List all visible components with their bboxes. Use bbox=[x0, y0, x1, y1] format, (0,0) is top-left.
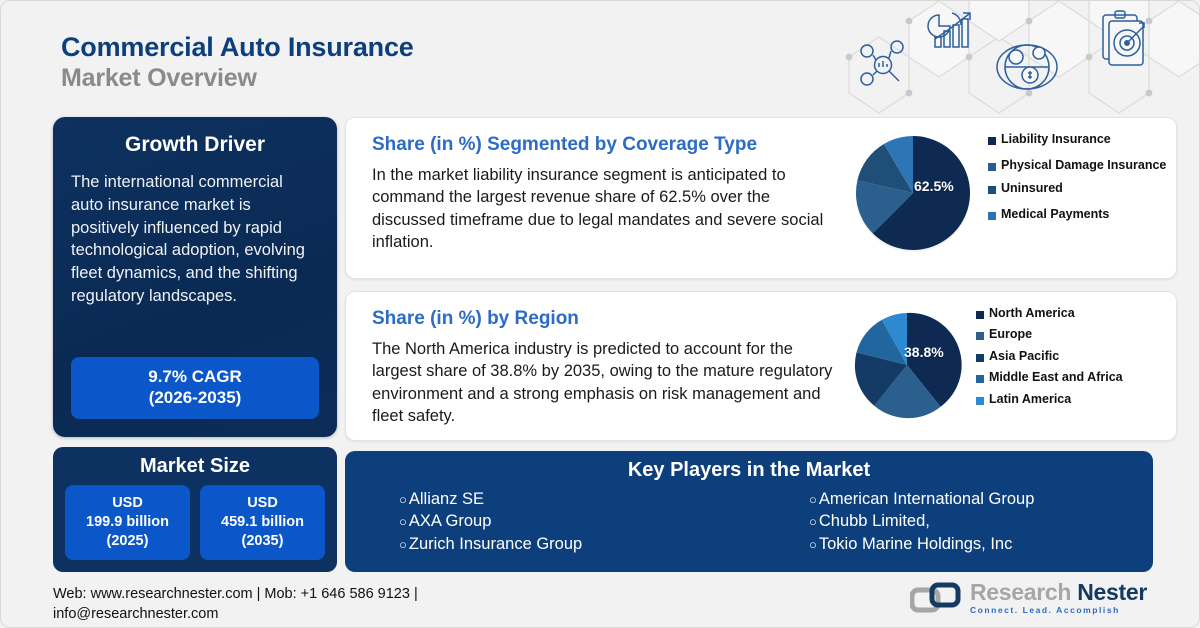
legend-swatch-medical-payments bbox=[988, 212, 996, 220]
legend-label: Medical Payments bbox=[1001, 207, 1109, 221]
research-nester-logo: Research Nester Connect. Lead. Accomplis… bbox=[910, 581, 1147, 615]
region-section-heading: Share (in %) by Region bbox=[372, 308, 834, 330]
coverage-type-section: Share (in %) Segmented by Coverage Type … bbox=[345, 117, 1177, 279]
currency-label: USD bbox=[202, 494, 323, 513]
list-item: ○ Zurich Insurance Group bbox=[399, 533, 749, 555]
bullet-icon: ○ bbox=[399, 513, 407, 531]
legend-item: Middle East and Africa bbox=[976, 370, 1123, 384]
bullet-icon: ○ bbox=[809, 491, 817, 509]
bullet-icon: ○ bbox=[399, 536, 407, 554]
legend-label: Physical Damage Insurance bbox=[1001, 158, 1166, 172]
legend-item: North America bbox=[976, 306, 1123, 320]
footer-line-2: info@researchnester.com bbox=[53, 604, 523, 624]
legend-item: Liability Insurance bbox=[988, 132, 1166, 146]
region-pie-chart: 38.8% bbox=[848, 306, 966, 424]
legend-item: Uninsured bbox=[988, 181, 1166, 195]
list-item: ○ Allianz SE bbox=[399, 488, 749, 510]
coverage-legend: Liability Insurance Physical Damage Insu… bbox=[978, 128, 1166, 234]
page-header: Commercial Auto Insurance Market Overvie… bbox=[61, 33, 414, 94]
legend-label: Uninsured bbox=[1001, 181, 1063, 195]
growth-driver-body: The international commercial auto insura… bbox=[71, 171, 319, 308]
legend-swatch-north-america bbox=[976, 311, 984, 319]
list-item: ○ Chubb Limited, bbox=[809, 510, 1135, 532]
bullet-icon: ○ bbox=[809, 536, 817, 554]
legend-item: Europe bbox=[976, 327, 1123, 341]
market-size-card: Market Size USD 199.9 billion (2025) USD… bbox=[53, 447, 337, 572]
legend-label: Middle East and Africa bbox=[989, 370, 1123, 384]
bullet-icon: ○ bbox=[809, 513, 817, 531]
page-subtitle: Market Overview bbox=[61, 63, 414, 94]
infographic-canvas: Commercial Auto Insurance Market Overvie… bbox=[0, 0, 1200, 628]
cagr-value: 9.7% CAGR bbox=[77, 366, 313, 387]
key-players-column-right: ○ American International Group ○ Chubb L… bbox=[749, 488, 1135, 555]
region-section: Share (in %) by Region The North America… bbox=[345, 291, 1177, 441]
cagr-period: (2026-2035) bbox=[77, 387, 313, 408]
logo-wordmark: Research Nester bbox=[970, 581, 1147, 604]
player-name: Allianz SE bbox=[409, 488, 484, 510]
coverage-section-body: In the market liability insurance segmen… bbox=[372, 164, 834, 254]
key-players-column-left: ○ Allianz SE ○ AXA Group ○ Zurich Insura… bbox=[363, 488, 749, 555]
legend-item: Latin America bbox=[976, 392, 1123, 406]
market-size-values: USD 199.9 billion (2025) USD 459.1 billi… bbox=[65, 485, 325, 560]
player-name: Tokio Marine Holdings, Inc bbox=[819, 533, 1013, 555]
globe-money-icon bbox=[997, 45, 1057, 89]
value-label: 199.9 billion bbox=[67, 513, 188, 532]
clipboard-target-icon bbox=[1103, 11, 1144, 65]
list-item: ○ AXA Group bbox=[399, 510, 749, 532]
coverage-section-heading: Share (in %) Segmented by Coverage Type bbox=[372, 134, 834, 156]
logo-word-research: Research bbox=[970, 579, 1071, 605]
growth-chart-icon bbox=[928, 13, 970, 47]
legend-item: Asia Pacific bbox=[976, 349, 1123, 363]
logo-mark-icon bbox=[910, 582, 962, 614]
page-title: Commercial Auto Insurance bbox=[61, 33, 414, 63]
growth-driver-card: Growth Driver The international commerci… bbox=[53, 117, 337, 437]
year-label: (2035) bbox=[202, 532, 323, 551]
market-size-title: Market Size bbox=[65, 455, 325, 478]
legend-swatch-europe bbox=[976, 332, 984, 340]
coverage-pie-chart: 62.5% bbox=[848, 128, 978, 258]
footer-contact: Web: www.researchnester.com | Mob: +1 64… bbox=[53, 584, 523, 624]
market-size-box-2035: USD 459.1 billion (2035) bbox=[200, 485, 325, 560]
legend-swatch-liability-insurance bbox=[988, 137, 996, 145]
legend-item: Physical Damage Insurance bbox=[988, 158, 1166, 172]
cagr-badge: 9.7% CAGR (2026-2035) bbox=[71, 357, 319, 420]
year-label: (2025) bbox=[67, 532, 188, 551]
player-name: Chubb Limited, bbox=[819, 510, 930, 532]
logo-tagline: Connect. Lead. Accomplish bbox=[970, 606, 1147, 615]
hexagon-decoration bbox=[839, 0, 1199, 119]
key-players-title: Key Players in the Market bbox=[363, 459, 1135, 482]
key-players-card: Key Players in the Market ○ Allianz SE ○… bbox=[345, 451, 1153, 572]
market-size-box-2025: USD 199.9 billion (2025) bbox=[65, 485, 190, 560]
legend-label: Latin America bbox=[989, 392, 1071, 406]
legend-label: Europe bbox=[989, 327, 1032, 341]
footer-line-1: Web: www.researchnester.com | Mob: +1 64… bbox=[53, 584, 523, 604]
coverage-pie-value-label: 62.5% bbox=[914, 178, 954, 194]
logo-word-nester: Nester bbox=[1077, 579, 1147, 605]
player-name: Zurich Insurance Group bbox=[409, 533, 582, 555]
growth-driver-title: Growth Driver bbox=[71, 133, 319, 157]
legend-label: Asia Pacific bbox=[989, 349, 1059, 363]
legend-item: Medical Payments bbox=[988, 207, 1166, 221]
region-section-body: The North America industry is predicted … bbox=[372, 338, 834, 428]
legend-label: North America bbox=[989, 306, 1075, 320]
region-legend: North America Europe Asia Pacific Middle… bbox=[966, 302, 1123, 413]
list-item: ○ American International Group bbox=[809, 488, 1135, 510]
network-people-icon bbox=[861, 41, 903, 85]
legend-swatch-asia-pacific bbox=[976, 354, 984, 362]
legend-swatch-latin-america bbox=[976, 397, 984, 405]
legend-swatch-physical-damage-insurance bbox=[988, 163, 996, 171]
legend-swatch-uninsured bbox=[988, 186, 996, 194]
legend-swatch-middle-east-and-africa bbox=[976, 375, 984, 383]
list-item: ○ Tokio Marine Holdings, Inc bbox=[809, 533, 1135, 555]
player-name: AXA Group bbox=[409, 510, 492, 532]
player-name: American International Group bbox=[819, 488, 1035, 510]
value-label: 459.1 billion bbox=[202, 513, 323, 532]
region-pie-value-label: 38.8% bbox=[904, 344, 944, 360]
legend-label: Liability Insurance bbox=[1001, 132, 1111, 146]
currency-label: USD bbox=[67, 494, 188, 513]
bullet-icon: ○ bbox=[399, 491, 407, 509]
